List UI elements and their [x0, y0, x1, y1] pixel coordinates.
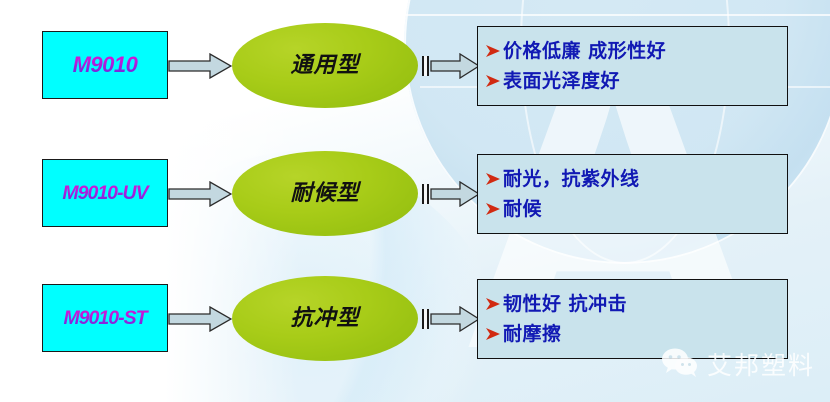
feature-text: 耐摩擦	[503, 323, 562, 345]
features-text-box[interactable]: 韧性好 抗冲击 耐摩擦	[477, 279, 788, 359]
feature-line: 表面光泽度好	[485, 66, 787, 96]
flow-arrow-type-to-features	[430, 53, 480, 79]
diagram-canvas: A M9010 通用型 价格低廉 成形性好	[0, 0, 830, 402]
feature-line: 耐候	[485, 194, 787, 224]
flow-arrow-type-to-features	[430, 181, 480, 207]
connector-handle	[422, 309, 429, 329]
feature-text: 韧性好 抗冲击	[503, 293, 627, 315]
flow-arrow-box-to-type	[168, 306, 232, 332]
feature-text: 耐候	[503, 198, 542, 220]
diagram-row-impact-resistant: M9010-ST 抗冲型 韧性好 抗冲击 耐摩擦	[0, 273, 830, 383]
flow-arrow-box-to-type	[168, 181, 232, 207]
grade-code-label: M9010	[42, 50, 168, 80]
arrow-bullet-icon	[485, 169, 502, 189]
feature-line: 韧性好 抗冲击	[485, 289, 787, 319]
feature-line: 耐光，抗紫外线	[485, 164, 787, 194]
background-globe-latitude-1	[404, 14, 830, 16]
type-ellipse-label: 耐候型	[232, 178, 418, 208]
feature-text: 价格低廉 成形性好	[503, 40, 666, 62]
connector-handle	[422, 184, 429, 204]
grade-code-label: M9010-ST	[42, 303, 168, 333]
features-text-box[interactable]: 耐光，抗紫外线 耐候	[477, 154, 788, 234]
features-text-box[interactable]: 价格低廉 成形性好 表面光泽度好	[477, 26, 788, 106]
type-ellipse-label: 抗冲型	[232, 303, 418, 333]
diagram-row-weather-resistant: M9010-UV 耐候型 耐光，抗紫外线 耐候	[0, 148, 830, 258]
feature-line: 价格低廉 成形性好	[485, 36, 787, 66]
arrow-bullet-icon	[485, 294, 502, 314]
grade-code-label: M9010-UV	[42, 178, 168, 208]
diagram-row-general: M9010 通用型 价格低廉 成形性好 表面光泽度好	[0, 20, 830, 130]
arrow-bullet-icon	[485, 71, 502, 91]
flow-arrow-box-to-type	[168, 53, 232, 79]
connector-handle	[422, 56, 429, 76]
flow-arrow-type-to-features	[430, 306, 480, 332]
type-ellipse-label: 通用型	[232, 50, 418, 80]
feature-line: 耐摩擦	[485, 319, 787, 349]
feature-text: 表面光泽度好	[503, 70, 620, 92]
arrow-bullet-icon	[485, 199, 502, 219]
feature-text: 耐光，抗紫外线	[503, 168, 640, 190]
arrow-bullet-icon	[485, 41, 502, 61]
arrow-bullet-icon	[485, 324, 502, 344]
